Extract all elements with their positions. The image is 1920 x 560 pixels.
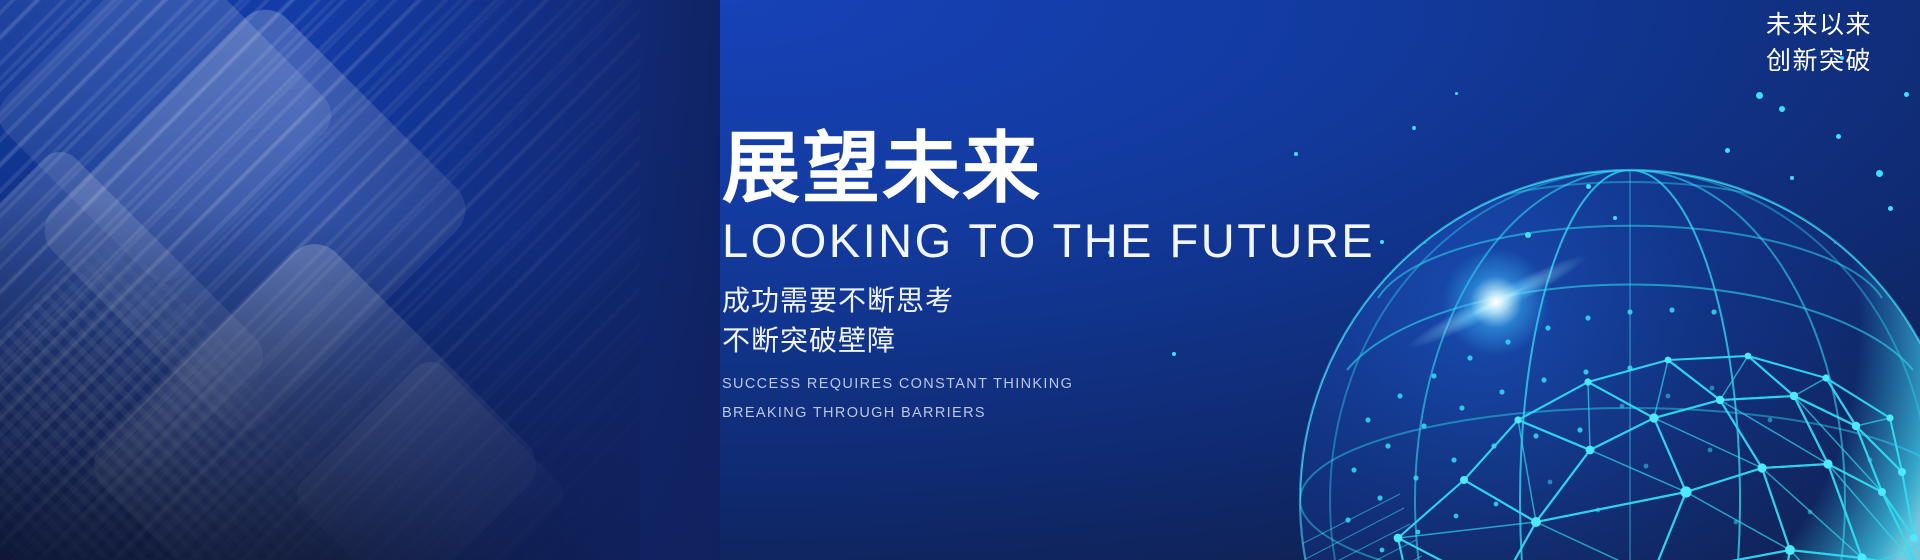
slogan-line-1: 未来以来 xyxy=(1766,8,1872,44)
headline-block: 展望未来 LOOKING TO THE FUTURE 成功需要不断思考 不断突破… xyxy=(722,128,1342,427)
tagline-line-1: 成功需要不断思考 xyxy=(722,281,1342,321)
page-title: 展望未来 xyxy=(722,128,1342,209)
globe-wireframe-svg xyxy=(1250,120,1920,560)
spark-dot xyxy=(1455,92,1458,95)
caption-line-2: BREAKING THROUGH BARRIERS xyxy=(722,399,1342,427)
slogan-line-2: 创新突破 xyxy=(1766,44,1872,80)
spark-dot xyxy=(1904,92,1909,97)
spark-dot xyxy=(1756,92,1763,99)
banner-root: 未来以来 创新突破 展望未来 LOOKING TO THE FUTURE 成功需… xyxy=(0,0,1920,560)
caption-line-1: SUCCESS REQUIRES CONSTANT THINKING xyxy=(722,370,1342,398)
globe-graphic xyxy=(1250,120,1920,560)
page-subtitle: LOOKING TO THE FUTURE xyxy=(722,215,1342,267)
tagline-line-2: 不断突破壁障 xyxy=(722,321,1342,361)
corner-slogan: 未来以来 创新突破 xyxy=(1766,8,1872,79)
left-art-fade xyxy=(300,0,720,560)
spark-dot xyxy=(1779,106,1785,112)
